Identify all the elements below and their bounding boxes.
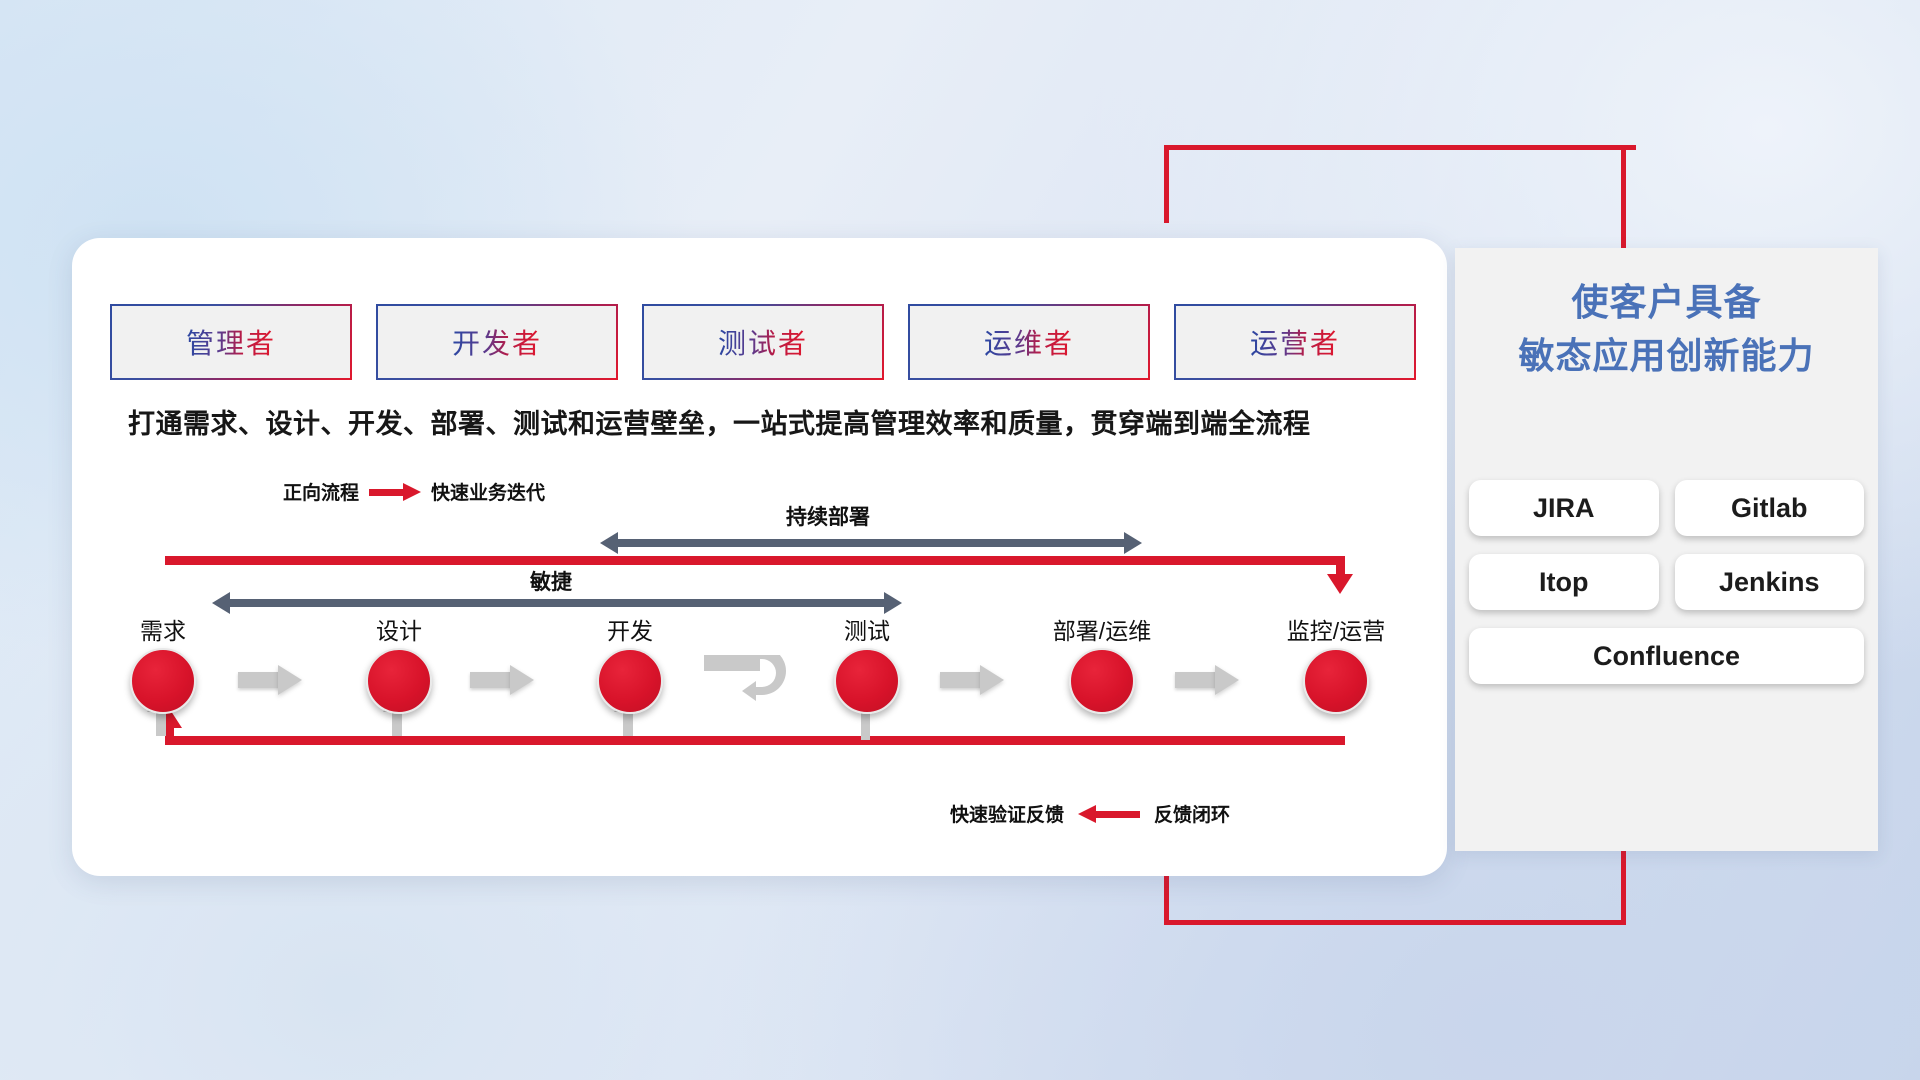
- connector-arrow-requirement-design-icon: [238, 665, 302, 695]
- pipeline-rail-bottom: [165, 736, 1345, 745]
- pipeline-node-dot-icon: [597, 648, 663, 714]
- pipeline-node-monitor-operations[interactable]: 监控/运营: [1303, 648, 1369, 714]
- tool-chip-confluence[interactable]: Confluence: [1469, 628, 1864, 684]
- panel-title-line2: 敏态应用创新能力: [1455, 330, 1878, 382]
- pipeline-rail-top: [165, 556, 1345, 565]
- headline-text: 打通需求、设计、开发、部署、测试和运营壁垒，一站式提高管理效率和质量，贯穿端到端…: [128, 402, 1398, 441]
- pipeline-node-dot-icon: [366, 648, 432, 714]
- forward-flow-legend: 正向流程 快速业务迭代: [283, 478, 545, 505]
- pipeline-node-design[interactable]: 设计: [366, 648, 432, 714]
- outer-bracket-top: [1164, 145, 1636, 150]
- value-panel: 使客户具备 敏态应用创新能力 JIRA Gitlab Itop Jenkins …: [1455, 248, 1878, 851]
- pipeline-node-dot-icon: [834, 648, 900, 714]
- tool-chip-list: JIRA Gitlab Itop Jenkins Confluence: [1469, 480, 1864, 684]
- feedback-source-label: 反馈闭环: [1154, 800, 1230, 827]
- role-label: 运维者: [984, 322, 1074, 362]
- red-right-arrow-icon: [369, 483, 421, 501]
- pipeline-node-test[interactable]: 测试: [834, 648, 900, 714]
- role-label: 管理者: [186, 322, 276, 362]
- pipeline-node-develop[interactable]: 开发: [597, 648, 663, 714]
- role-box-operations[interactable]: 运营者: [1176, 306, 1414, 378]
- role-box-developer[interactable]: 开发者: [378, 306, 616, 378]
- pipeline-node-label: 部署/运维: [1053, 612, 1151, 646]
- forward-flow-source-label: 正向流程: [283, 478, 359, 505]
- continuous-deploy-label: 持续部署: [786, 501, 870, 531]
- slide-canvas: 管理者 开发者 测试者 运维者 运营者 打通需求、设计、开发、部署、测试和运营壁…: [0, 0, 1920, 1080]
- tool-chip-jenkins[interactable]: Jenkins: [1675, 554, 1865, 610]
- pipeline-node-dot-icon: [130, 648, 196, 714]
- feedback-target-label: 快速验证反馈: [950, 800, 1064, 827]
- role-label: 运营者: [1250, 322, 1340, 362]
- pipeline-node-label: 设计: [376, 612, 422, 646]
- connector-arrow-test-deploy-icon: [940, 665, 1004, 695]
- red-left-arrow-icon: [1078, 805, 1140, 823]
- forward-flow-target-label: 快速业务迭代: [431, 478, 545, 505]
- pipeline-node-requirement[interactable]: 需求: [130, 648, 196, 714]
- role-box-ops[interactable]: 运维者: [910, 306, 1148, 378]
- role-box-row: 管理者 开发者 测试者 运维者 运营者: [112, 306, 1414, 378]
- tool-chip-itop[interactable]: Itop: [1469, 554, 1659, 610]
- panel-title-line1: 使客户具备: [1455, 276, 1878, 330]
- outer-bracket-left: [1164, 145, 1169, 223]
- pipeline-node-label: 需求: [140, 612, 186, 646]
- pipeline-node-deploy-ops[interactable]: 部署/运维: [1069, 648, 1135, 714]
- role-box-manager[interactable]: 管理者: [112, 306, 350, 378]
- pipeline-node-label: 监控/运营: [1287, 612, 1385, 646]
- agile-arrow-icon: [212, 592, 902, 614]
- connector-arrow-deploy-monitor-icon: [1175, 665, 1239, 695]
- tool-chip-jira[interactable]: JIRA: [1469, 480, 1659, 536]
- pipeline-node-dot-icon: [1303, 648, 1369, 714]
- pipeline-node-dot-icon: [1069, 648, 1135, 714]
- continuous-deploy-arrow-icon: [600, 532, 1142, 554]
- pipeline-node-label: 开发: [607, 612, 653, 646]
- feedback-legend: 快速验证反馈 反馈闭环: [950, 800, 1230, 827]
- connector-arrow-design-develop-icon: [470, 665, 534, 695]
- panel-title: 使客户具备 敏态应用创新能力: [1455, 276, 1878, 382]
- pipeline-arrowhead-down-icon: [1327, 574, 1353, 594]
- loopback-arrow-icon: [702, 655, 794, 711]
- role-label: 开发者: [452, 322, 542, 362]
- role-box-tester[interactable]: 测试者: [644, 306, 882, 378]
- pipeline-node-label: 测试: [844, 612, 890, 646]
- pipeline-rail-right: [1336, 556, 1345, 576]
- role-label: 测试者: [718, 322, 808, 362]
- outer-bracket-bottom: [1164, 920, 1626, 925]
- tool-chip-gitlab[interactable]: Gitlab: [1675, 480, 1865, 536]
